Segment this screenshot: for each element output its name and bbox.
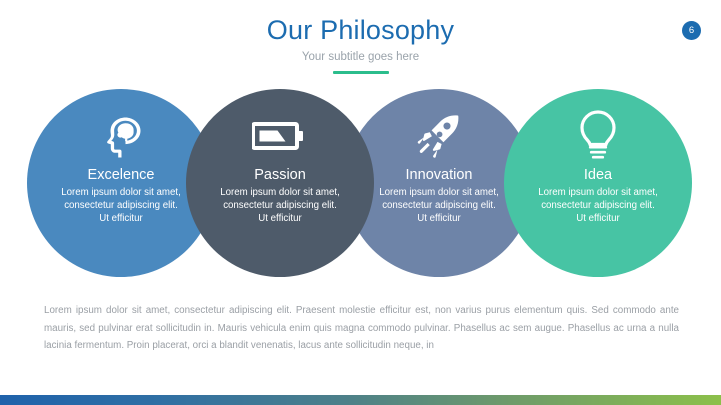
- venn-circle-title: Innovation: [406, 166, 473, 185]
- slide-number-badge: 6: [682, 21, 701, 40]
- venn-circle-content: Idea Lorem ipsum dolor sit amet, consect…: [504, 89, 692, 277]
- venn-circle-title: Idea: [584, 166, 612, 185]
- page-title: Our Philosophy: [0, 14, 721, 46]
- page-subtitle: Your subtitle goes here: [0, 49, 721, 65]
- slide: Our Philosophy Your subtitle goes here 6…: [0, 0, 721, 405]
- lightbulb-icon: [576, 110, 620, 162]
- venn-circle-text: Lorem ipsum dolor sit amet, consectetur …: [536, 186, 660, 226]
- battery-icon: [252, 110, 308, 162]
- venn-circle-text: Lorem ipsum dolor sit amet, consectetur …: [218, 186, 342, 226]
- head-brain-icon: [95, 110, 147, 162]
- venn-circle-title: Excelence: [88, 166, 155, 185]
- title-underline-rule: [333, 71, 389, 74]
- venn-circle-idea[interactable]: Idea Lorem ipsum dolor sit amet, consect…: [504, 89, 692, 277]
- venn-circle-text: Lorem ipsum dolor sit amet, consectetur …: [59, 186, 183, 226]
- venn-diagram: Excelence Lorem ipsum dolor sit amet, co…: [0, 89, 721, 277]
- slide-header: Our Philosophy Your subtitle goes here: [0, 14, 721, 74]
- venn-circle-content: Passion Lorem ipsum dolor sit amet, cons…: [186, 89, 374, 277]
- venn-circle-text: Lorem ipsum dolor sit amet, consectetur …: [377, 186, 501, 226]
- venn-circle-passion[interactable]: Passion Lorem ipsum dolor sit amet, cons…: [186, 89, 374, 277]
- body-paragraph: Lorem ipsum dolor sit amet, consectetur …: [44, 302, 679, 355]
- footer-gradient-bar: [0, 395, 721, 405]
- rocket-icon: [413, 110, 465, 162]
- venn-circle-title: Passion: [254, 166, 306, 185]
